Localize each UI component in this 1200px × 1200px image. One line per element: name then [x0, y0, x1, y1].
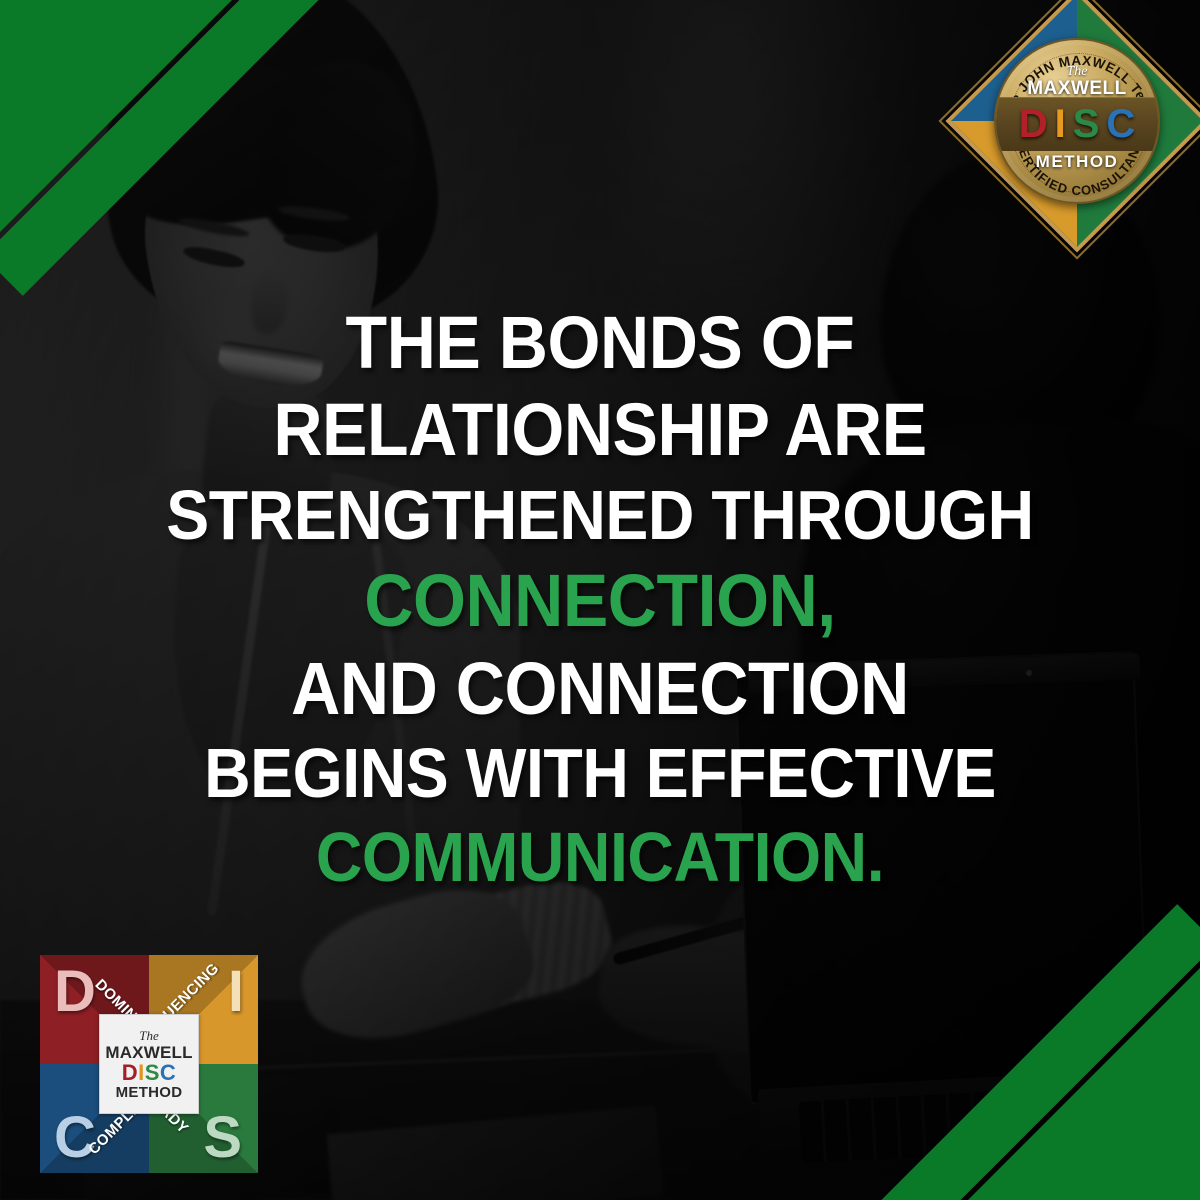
center-the-label: The	[139, 1029, 159, 1042]
disc-logo-center-mark: The MAXWELL DISC METHOD	[99, 1014, 199, 1114]
quote-line-5: AND CONNECTION	[103, 651, 1097, 726]
badge-method-label: METHOD	[996, 152, 1158, 172]
badge-letter-c: C	[1106, 104, 1135, 144]
badge-letter-s: S	[1073, 104, 1100, 144]
quote-line-7-accent: COMMUNICATION.	[103, 822, 1097, 893]
poster-canvas: THE BONDS OF RELATIONSHIP ARE STRENGTHEN…	[0, 0, 1200, 1200]
quadrant-letter-d: D	[54, 963, 96, 1021]
center-letter-d: D	[122, 1060, 138, 1085]
quote-line-6: BEGINS WITH EFFECTIVE	[103, 738, 1097, 809]
center-method-label: METHOD	[116, 1085, 183, 1100]
center-maxwell-label: MAXWELL	[105, 1044, 192, 1061]
certified-consultant-badge: The JOHN MAXWELL Team CERTIFIED CONSULTA…	[958, 6, 1194, 296]
quote-line-2: RELATIONSHIP ARE	[103, 392, 1097, 467]
badge-letter-d: D	[1019, 104, 1048, 144]
center-disc-letters: DISC	[122, 1062, 177, 1084]
center-letter-c: C	[160, 1060, 176, 1085]
quote-block: THE BONDS OF RELATIONSHIP ARE STRENGTHEN…	[0, 305, 1200, 905]
center-letter-s: S	[145, 1060, 160, 1085]
quadrant-letter-c: C	[54, 1109, 96, 1167]
quadrant-letter-i: I	[228, 963, 244, 1021]
quote-line-3: STRENGTHENED THROUGH	[103, 480, 1097, 551]
badge-seal: The JOHN MAXWELL Team CERTIFIED CONSULTA…	[994, 38, 1160, 204]
badge-disc-letters: D I S C	[996, 100, 1158, 148]
badge-letter-i: I	[1055, 104, 1066, 144]
center-letter-i: I	[138, 1060, 145, 1085]
quote-line-1: THE BONDS OF	[103, 305, 1097, 380]
quadrant-letter-s: S	[203, 1109, 242, 1167]
disc-quadrant-logo: D DOMINANT I INFLUENCING C COMPLIANT S S…	[40, 955, 258, 1173]
quote-line-4-accent: CONNECTION,	[103, 563, 1097, 638]
